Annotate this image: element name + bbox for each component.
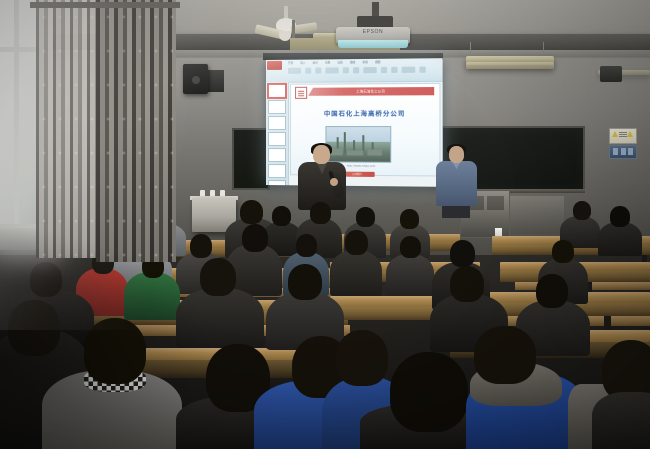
curtain-pattern	[36, 0, 176, 258]
student-head	[84, 318, 146, 384]
layout-icon[interactable]	[419, 67, 425, 73]
presenter2-trousers	[442, 204, 470, 218]
student-head	[190, 234, 212, 258]
slide-thumbnail[interactable]	[268, 116, 286, 130]
arrange-icon[interactable]	[363, 67, 376, 73]
switch-toggle[interactable]	[628, 148, 633, 155]
fluorescent-tube-light	[466, 62, 554, 69]
shape-icon[interactable]	[353, 67, 359, 73]
paste-icon[interactable]	[288, 68, 301, 74]
student-body	[598, 222, 642, 256]
tab-animations[interactable]: 动画	[337, 60, 342, 64]
tab-slideshow[interactable]: 放映	[350, 60, 355, 64]
student-head	[296, 234, 317, 257]
select-icon[interactable]	[391, 67, 397, 73]
slide-title: 中国石化上海高桥分公司	[291, 109, 439, 118]
slide-header-banner: 上海石油化工公司	[308, 87, 434, 96]
student-head	[390, 352, 468, 432]
powerpoint-file-menu[interactable]	[267, 61, 282, 70]
student-head	[200, 258, 236, 296]
slide-thumbnail[interactable]	[268, 164, 286, 178]
tab-transitions[interactable]: 切换	[325, 60, 330, 64]
student-body	[176, 288, 264, 348]
slide-footer-text: http://www.shgq.com	[347, 165, 376, 168]
student-body	[386, 254, 434, 296]
switch-toggle[interactable]	[613, 148, 618, 155]
font-icon[interactable]	[305, 68, 311, 74]
student-head	[310, 202, 331, 224]
student-head	[272, 206, 291, 226]
wall-speaker-cone	[192, 76, 200, 84]
student-head	[30, 262, 62, 297]
presenter-hand	[330, 178, 338, 186]
student-head	[536, 274, 568, 308]
tab-review[interactable]: 审阅	[362, 60, 367, 64]
lecture-hall-photo: EPSON 开始 插入 设计 切换 动画 放映 审阅 视图	[0, 0, 650, 449]
slide-thumbnail[interactable]	[268, 148, 286, 162]
student-body	[124, 272, 180, 320]
projector-lens	[338, 40, 408, 48]
switch-toggle[interactable]	[621, 148, 626, 155]
slide-thumbnail-panel[interactable]	[266, 82, 289, 185]
warning-triangle-icon	[612, 131, 618, 137]
slide-header-text: 上海石油化工公司	[308, 87, 434, 96]
slide-thumbnail[interactable]	[268, 84, 286, 98]
window-frame	[14, 0, 19, 250]
ribbon-tab-row: 开始 插入 设计 切换 动画 放映 审阅 视图	[288, 60, 380, 65]
curtain-rod	[30, 2, 180, 8]
student-body	[330, 250, 382, 296]
student-body	[592, 392, 650, 449]
student-head	[474, 326, 536, 384]
slide-thumbnail[interactable]	[268, 100, 286, 114]
student-head	[450, 266, 484, 302]
student-head	[336, 330, 388, 386]
student-head	[450, 240, 475, 267]
warning-triangle-icon	[627, 131, 633, 137]
ribbon-tool-icons	[288, 66, 438, 73]
projector-brand-label: EPSON	[336, 29, 410, 35]
presenter-head	[313, 145, 330, 164]
find-icon[interactable]	[381, 67, 387, 73]
student-head	[240, 200, 263, 224]
tab-view[interactable]: 视图	[375, 60, 380, 64]
blackboard-side-panel	[232, 128, 270, 190]
presenter2-head	[449, 146, 464, 163]
bullet-icon[interactable]	[343, 67, 349, 73]
tab-design[interactable]: 设计	[313, 60, 318, 64]
side-cabinet	[508, 196, 564, 234]
student-head	[400, 236, 421, 258]
newslide-icon[interactable]	[402, 67, 416, 73]
bold-icon[interactable]	[315, 67, 321, 73]
electrical-warning-icon	[609, 128, 637, 144]
cabinet-door[interactable]	[487, 196, 504, 210]
student-head	[345, 230, 368, 255]
tab-start[interactable]: 开始	[288, 61, 293, 65]
student-head	[552, 240, 574, 263]
projection-screen: 开始 插入 设计 切换 动画 放映 审阅 视图	[266, 58, 443, 187]
warning-sign-text	[619, 132, 627, 133]
student-head	[573, 201, 591, 220]
student-head	[288, 264, 322, 300]
refinery-photo	[325, 126, 391, 163]
student-head	[400, 209, 419, 229]
student-head	[610, 206, 630, 227]
student-head	[8, 300, 60, 356]
company-logo-icon	[295, 87, 307, 99]
student-head	[356, 207, 375, 227]
wall-mounted-box	[600, 66, 622, 82]
tab-insert[interactable]: 插入	[300, 61, 305, 65]
projector-shelf-hanger	[292, 20, 295, 40]
speaker-bracket	[206, 70, 224, 92]
student-head	[242, 224, 268, 252]
slide-thumbnail[interactable]	[268, 132, 286, 146]
align-icon[interactable]	[325, 67, 338, 73]
wall-switch-panel[interactable]	[609, 145, 637, 159]
